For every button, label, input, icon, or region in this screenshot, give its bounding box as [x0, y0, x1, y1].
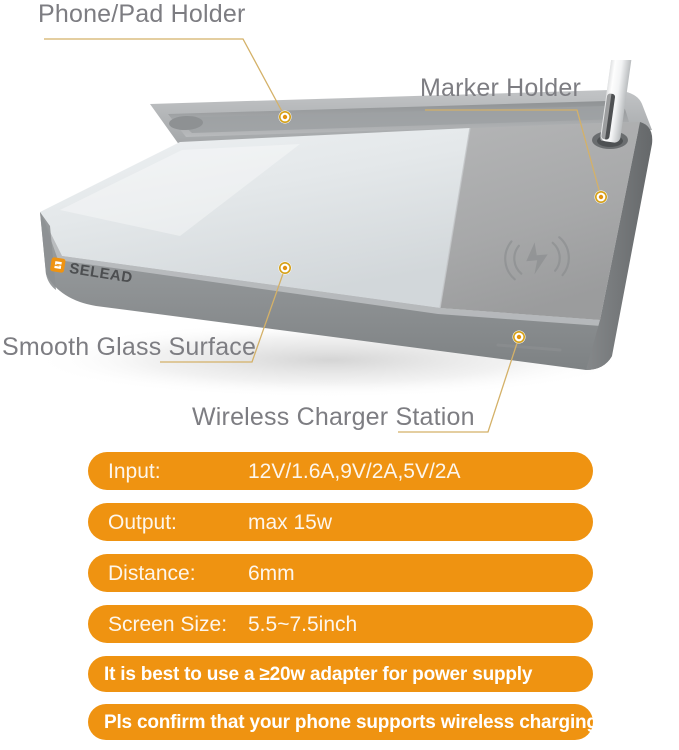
spec-row-distance: Distance: 6mm [88, 554, 593, 592]
note-row-wireless-support: Pls confirm that your phone supports wir… [88, 704, 593, 740]
specification-list: Input: 12V/1.6A,9V/2A,5V/2A Output: max … [88, 452, 593, 750]
spec-row-screen-size: Screen Size: 5.5~7.5inch [88, 605, 593, 643]
spec-label-input: Input: [88, 461, 161, 482]
product-infographic: SELEAD [0, 0, 679, 750]
spec-value-screen-size: 5.5~7.5inch [248, 614, 357, 635]
spec-label-screen-size: Screen Size: [88, 614, 227, 635]
note-row-adapter: It is best to use a ≥20w adapter for pow… [88, 656, 593, 692]
callout-label-smooth-glass-surface: Smooth Glass Surface [2, 335, 256, 360]
callout-label-marker-holder: Marker Holder [420, 76, 581, 101]
brand-mark-icon [50, 257, 66, 273]
spec-label-output: Output: [88, 512, 177, 533]
spec-row-input: Input: 12V/1.6A,9V/2A,5V/2A [88, 452, 593, 490]
spec-value-input: 12V/1.6A,9V/2A,5V/2A [248, 461, 460, 482]
note-text-adapter: It is best to use a ≥20w adapter for pow… [88, 665, 532, 684]
spec-value-distance: 6mm [248, 563, 295, 584]
callout-label-wireless-charger-station: Wireless Charger Station [192, 405, 475, 430]
spec-value-output: max 15w [248, 512, 332, 533]
note-text-wireless-support: Pls confirm that your phone supports wir… [88, 713, 598, 732]
callout-label-phone-pad-holder: Phone/Pad Holder [38, 2, 246, 27]
spec-row-output: Output: max 15w [88, 503, 593, 541]
spec-label-distance: Distance: [88, 563, 196, 584]
